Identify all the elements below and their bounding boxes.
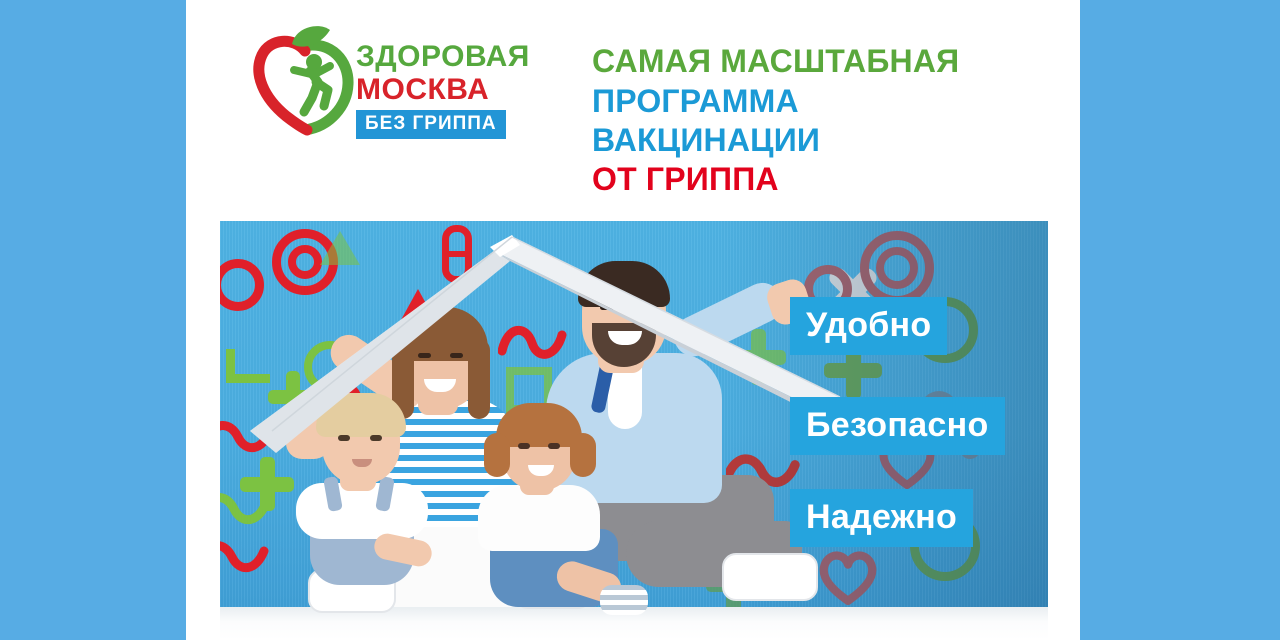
- headline-line-3: ВАКЦИНАЦИИ: [592, 124, 1062, 156]
- slogan-bar-nadezhno: Надежно: [790, 489, 973, 547]
- family-photo: Удобно Безопасно Надежно: [220, 221, 1048, 640]
- slogan-bar-bezopasno: Безопасно: [790, 397, 1005, 455]
- boy-figure: [274, 397, 454, 627]
- headline-line-2: ПРОГРАММА: [592, 85, 1062, 117]
- logo-wordmark: ЗДОРОВАЯ МОСКВА БЕЗ ГРИППА: [356, 42, 576, 139]
- headline-line-1: САМАЯ МАСШТАБНАЯ: [592, 45, 1062, 77]
- right-blue-rail: [1080, 0, 1280, 640]
- chevron-icon: [226, 349, 270, 383]
- triangle-outline-icon: [320, 231, 360, 265]
- ring-icon: [220, 259, 264, 311]
- headline-line-4: ОТ ГРИППА: [592, 163, 1062, 195]
- logo-line-zdorovaya: ЗДОРОВАЯ: [356, 42, 576, 72]
- girl-figure: [444, 411, 644, 640]
- headline: САМАЯ МАСШТАБНАЯ ПРОГРАММА ВАКЦИНАЦИИ ОТ…: [592, 45, 1062, 195]
- poster-canvas: ЗДОРОВАЯ МОСКВА БЕЗ ГРИППА САМАЯ МАСШТАБ…: [186, 0, 1080, 640]
- logo-apple-heart-icon: [248, 24, 354, 136]
- left-blue-rail: [0, 0, 186, 640]
- poster-stage: ЗДОРОВАЯ МОСКВА БЕЗ ГРИППА САМАЯ МАСШТАБ…: [0, 0, 1280, 640]
- shoe: [722, 553, 818, 601]
- logo-badge-bez-grippa: БЕЗ ГРИППА: [356, 110, 506, 139]
- capsule-divider: [442, 251, 472, 257]
- logo-line-moskva: МОСКВА: [356, 74, 576, 106]
- logo[interactable]: ЗДОРОВАЯ МОСКВА БЕЗ ГРИППА: [248, 22, 578, 140]
- slogan-bar-udobno: Удобно: [790, 297, 947, 355]
